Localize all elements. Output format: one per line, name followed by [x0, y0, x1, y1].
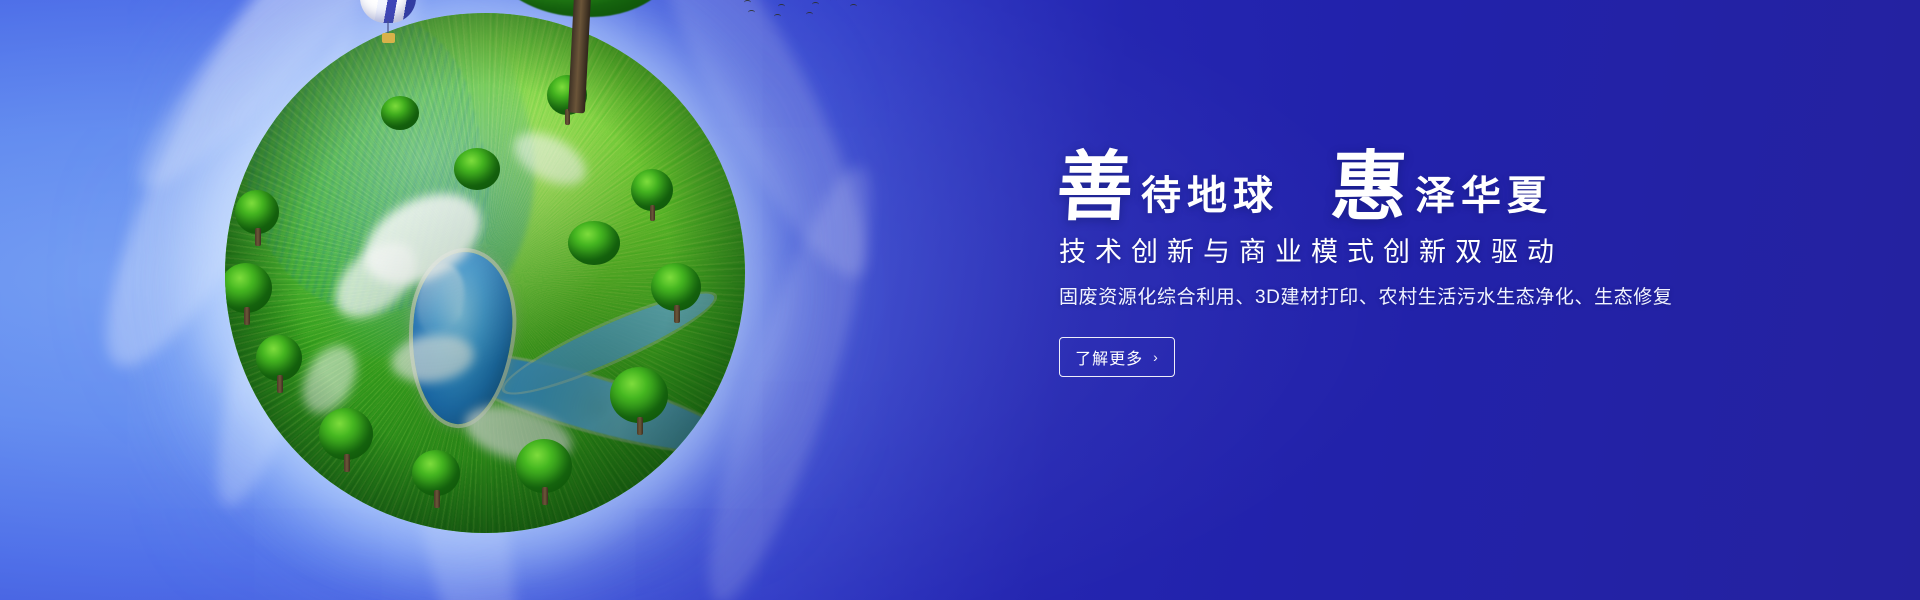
rim-tree [651, 263, 701, 323]
surface-tree [454, 148, 500, 194]
rim-tree [319, 408, 373, 472]
surface-tree [568, 221, 620, 269]
rim-tree [631, 169, 673, 221]
headline-group-1: 善 待地球 [1057, 152, 1279, 222]
learn-more-button[interactable]: 了解更多 › [1059, 337, 1175, 377]
rim-tree [225, 263, 272, 325]
rim-tree [610, 367, 668, 435]
learn-more-label: 了解更多 [1075, 345, 1143, 369]
balloon-envelope [360, 0, 416, 23]
headline-rest-1: 待地球 [1141, 176, 1279, 222]
rim-tree [256, 335, 302, 393]
chevron-right-icon: › [1153, 350, 1159, 364]
description: 固废资源化综合利用、3D建材打印、农村生活污水生态净化、生态修复 [1059, 284, 1757, 313]
headline-accent-2: 惠 [1329, 152, 1409, 222]
green-planet-illustration [130, 0, 830, 600]
hot-air-balloon-icon [360, 0, 416, 49]
subtitle: 技术创新与商业模式创新双驱动 [1059, 234, 1757, 270]
birds-flock-icon [720, 0, 880, 20]
hero-banner: 善 待地球 惠 泽华夏 技术创新与商业模式创新双驱动 固废资源化综合利用、3D建… [0, 0, 1920, 600]
headline: 善 待地球 惠 泽华夏 [1057, 130, 1757, 222]
headline-rest-2: 泽华夏 [1415, 176, 1553, 222]
rim-tree [412, 450, 460, 508]
globe-sphere [225, 13, 745, 533]
hero-copy-block: 善 待地球 惠 泽华夏 技术创新与商业模式创新双驱动 固废资源化综合利用、3D建… [1057, 130, 1757, 377]
balloon-basket [382, 33, 395, 43]
rim-tree [235, 190, 279, 246]
surface-tree [381, 96, 419, 132]
rim-tree [516, 439, 572, 505]
headline-accent-1: 善 [1055, 152, 1135, 222]
headline-group-2: 惠 泽华夏 [1331, 152, 1553, 222]
hero-tree [475, 0, 685, 77]
